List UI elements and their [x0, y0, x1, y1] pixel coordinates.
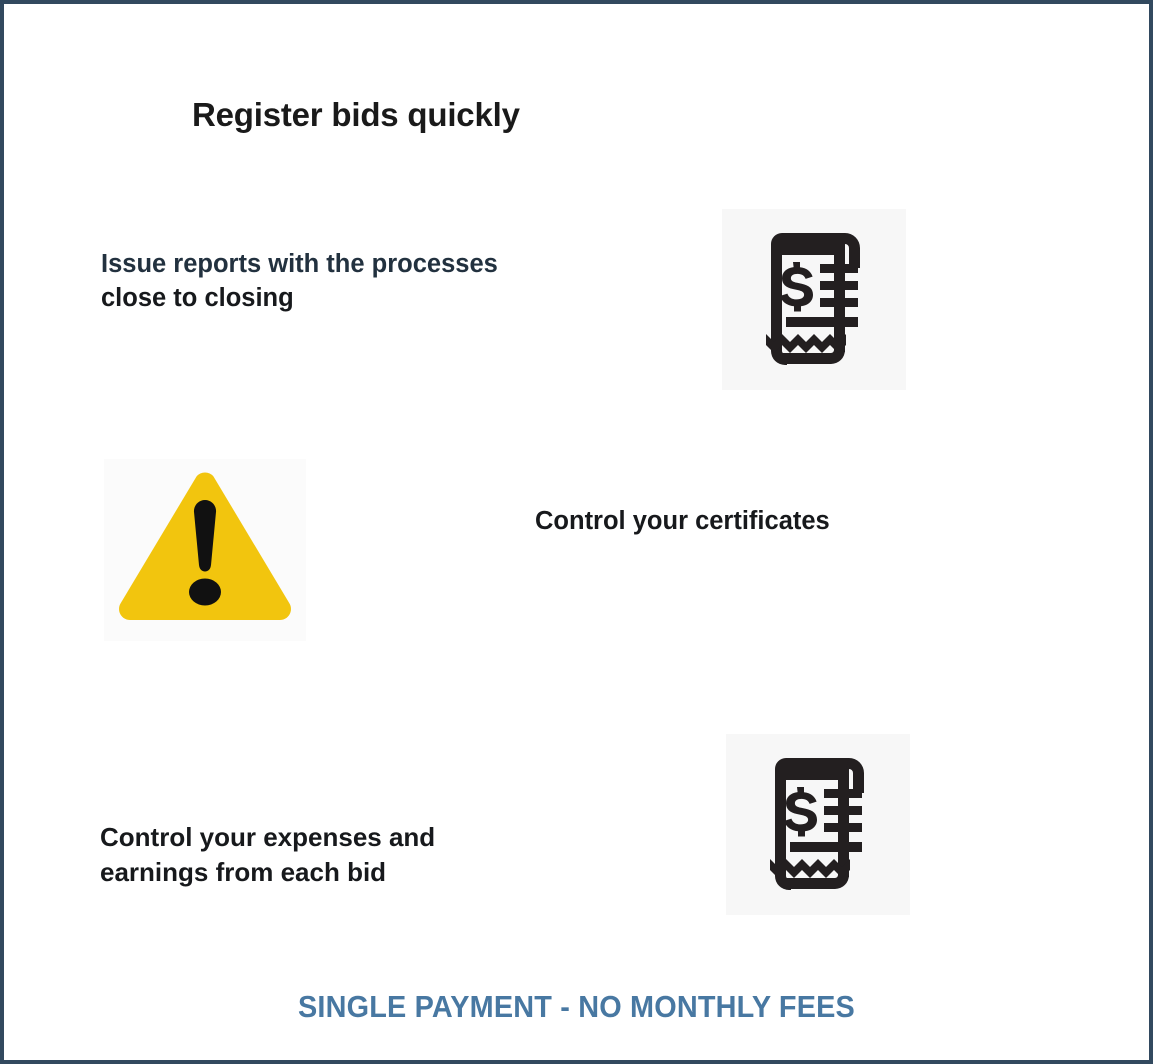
footer-text: SINGLE PAYMENT - NO MONTHLY FEES	[298, 989, 855, 1025]
slide-canvas: Register bids quickly Issue reports with…	[0, 0, 1153, 1064]
icon-tile-receipt-bottom	[726, 734, 910, 915]
feature-line: earnings from each bid	[100, 855, 435, 890]
feature-line: Control your expenses and	[100, 820, 435, 855]
feature-text-control-expenses: Control your expenses and earnings from …	[100, 820, 435, 890]
feature-line: close to closing	[101, 281, 498, 315]
receipt-dollar-icon	[741, 226, 887, 374]
feature-line: Issue reports with the processes	[101, 247, 498, 281]
feature-text-control-certificates: Control your certificates	[535, 504, 830, 538]
icon-tile-receipt-top	[722, 209, 906, 390]
receipt-dollar-icon	[745, 751, 891, 899]
feature-line: Control your certificates	[535, 504, 830, 538]
footer-banner: SINGLE PAYMENT - NO MONTHLY FEES	[4, 989, 1149, 1025]
warning-triangle-icon	[112, 467, 298, 633]
feature-text-issue-reports: Issue reports with the processes close t…	[101, 247, 498, 316]
icon-tile-warning	[104, 459, 306, 641]
page-title: Register bids quickly	[192, 96, 520, 134]
